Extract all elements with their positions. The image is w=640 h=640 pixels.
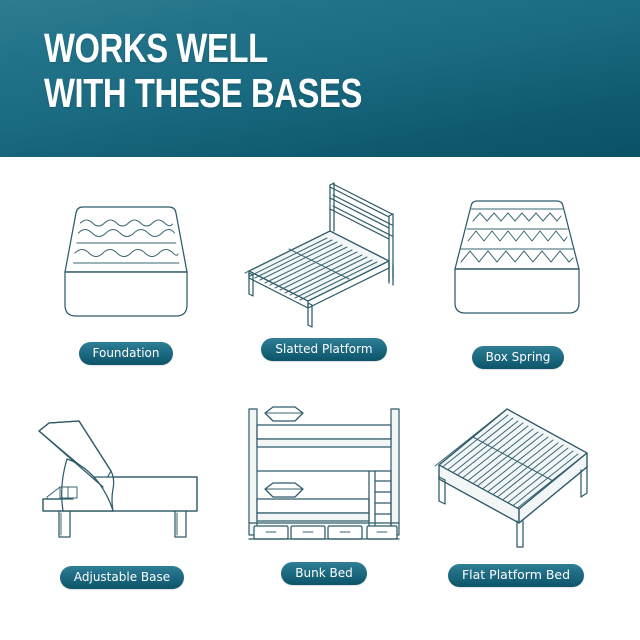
bases-grid: Foundation — [0, 157, 640, 640]
base-label-box-spring: Box Spring — [472, 346, 565, 369]
base-card-flat-platform-bed[interactable]: Flat Platform Bed — [418, 397, 614, 607]
adjustable-base-icon — [27, 399, 217, 564]
base-card-bunk-bed[interactable]: Bunk Bed — [226, 395, 422, 605]
base-label-bunk-bed: Bunk Bed — [281, 562, 366, 585]
foundation-mattress-icon — [31, 175, 221, 340]
bunk-bed-icon — [229, 395, 419, 560]
base-card-slatted-platform[interactable]: Slatted Platform — [226, 171, 422, 381]
header-banner: WORKS WELL WITH THESE BASES — [0, 0, 640, 157]
base-label-slatted-platform: Slatted Platform — [261, 338, 386, 361]
base-label-foundation: Foundation — [79, 342, 174, 365]
base-card-foundation[interactable]: Foundation — [28, 175, 224, 385]
infographic-page: WORKS WELL WITH THESE BASES — [0, 0, 640, 640]
flat-platform-bed-icon — [421, 397, 611, 562]
base-card-box-spring[interactable]: Box Spring — [420, 179, 616, 389]
slatted-platform-bed-icon — [229, 171, 419, 336]
base-label-adjustable-base: Adjustable Base — [60, 566, 184, 589]
page-title: WORKS WELL WITH THESE BASES — [44, 26, 362, 116]
base-label-flat-platform-bed: Flat Platform Bed — [448, 564, 584, 587]
base-card-adjustable-base[interactable]: Adjustable Base — [24, 399, 220, 609]
box-spring-icon — [423, 179, 613, 344]
